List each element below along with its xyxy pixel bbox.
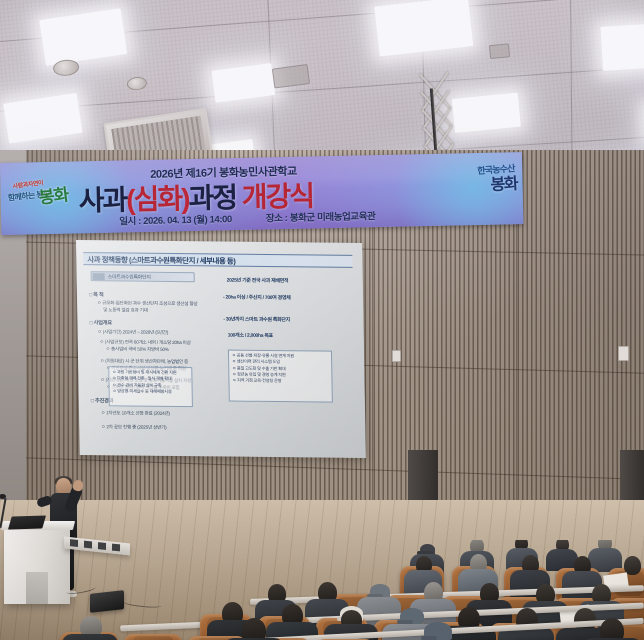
slide-right-line: - 20ha 이상 / 주산지 / 700여 경영체 xyxy=(223,294,291,302)
banner-title-part3: 개강식 xyxy=(241,180,313,212)
banner-title-part2: 과정 xyxy=(188,182,236,214)
banner-right-text: 봉화 xyxy=(489,170,517,195)
audience-head xyxy=(600,618,624,640)
banner-place-label: 장소 : xyxy=(266,213,288,224)
slide-box-right: ㅇ 공동 선별·저장·유통 시설 연계 지원 ㅇ 생산이력 관리 시스템 도입 … xyxy=(228,350,333,403)
slide-line: ㅇ 1차년도 10개소 선정 완료 (2024년) xyxy=(101,410,170,417)
logo-main-text: 봉화 xyxy=(37,180,69,208)
presentation-slide: 사과 정책동향 (스마트과수원특화단지 / 세부내용 등) 스마트과수원특화단지… xyxy=(76,240,366,458)
slide-title: 사과 정책동향 (스마트과수원특화단지 / 세부내용 등) xyxy=(83,252,352,268)
banner-date-value: 2026. 04. 13 (월) 14:00 xyxy=(143,214,232,227)
banner-place-value: 봉화군 미래농업교육관 xyxy=(290,211,376,224)
slide-heading: □ 목 적 xyxy=(89,292,104,299)
wall-switch[interactable] xyxy=(618,346,629,361)
audience-head xyxy=(242,618,266,640)
slide-line: ㅇ (사업기간) 2024년 ~ 2028년 (5년간) xyxy=(98,329,169,336)
projection-screen: 사과 정책동향 (스마트과수원특화단지 / 세부내용 등) 스마트과수원특화단지… xyxy=(76,240,366,458)
ceiling-vent-icon xyxy=(489,43,510,59)
audience-shoulders xyxy=(62,634,118,640)
banner-title-highlight: 심화 xyxy=(133,183,181,215)
slide-box-left: ㅇ 과원 기반정비 및 재식체계 전환 지원 ㅇ 다축형 재배 전환 · 밀식 … xyxy=(108,366,193,407)
banner-title-part1: 사과 xyxy=(78,184,126,216)
lecture-hall-photo: 사람과자연이 함께하는 봉화 봉화 2026년 제16기 봉화농민사관학교 사과… xyxy=(0,0,644,640)
slide-line: ㅇ 2차 공모 진행 중 (2025년 상반기) xyxy=(101,424,166,431)
seat[interactable] xyxy=(124,634,182,640)
slide-line: ㅇ (사업규모) 전국 60개소 내외 / 개소당 20ha 이상 xyxy=(100,339,191,346)
event-banner: 사람과자연이 함께하는 봉화 봉화 2026년 제16기 봉화농민사관학교 사과… xyxy=(0,152,523,235)
slide-line: ㅇ (지원대상) 시·군 단위 생산자단체, 농업법인 등 xyxy=(100,358,188,365)
slide-right-line: 2025년 기준 전국 사과 재배면적 xyxy=(227,277,289,285)
audience-cap xyxy=(400,608,424,624)
wall-joint xyxy=(372,190,373,530)
audience-seating xyxy=(0,540,644,640)
audience-cap xyxy=(424,622,452,640)
banner-date-label: 일시 : xyxy=(119,216,141,227)
slide-subtitle-tag: 스마트과수원특화단지 xyxy=(91,271,195,282)
slide-line: 및 노동력 절감 효과 기대 xyxy=(103,307,148,314)
slide-right-line: 100개소 / 2,000ha 목표 xyxy=(228,332,273,339)
podium-laptop xyxy=(8,515,46,529)
slide-line: ㅇ 총사업비 국비 50% 지방비 50% xyxy=(106,346,169,353)
slide-heading: □ 사업개요 xyxy=(89,320,112,327)
wall-switch[interactable] xyxy=(392,350,401,362)
slide-right-line: - 30년까지 스마트 과수원 특화단지 xyxy=(223,316,290,324)
wall-joint xyxy=(516,180,517,520)
panel-light-icon xyxy=(600,22,644,71)
audience-cap xyxy=(370,584,390,598)
slide-line: ㅇ 규모화·집단화된 과수 생산단지 조성으로 생산성 향상 xyxy=(97,300,198,307)
bonghwa-logo: 사람과자연이 함께하는 봉화 봉화 xyxy=(6,173,85,219)
